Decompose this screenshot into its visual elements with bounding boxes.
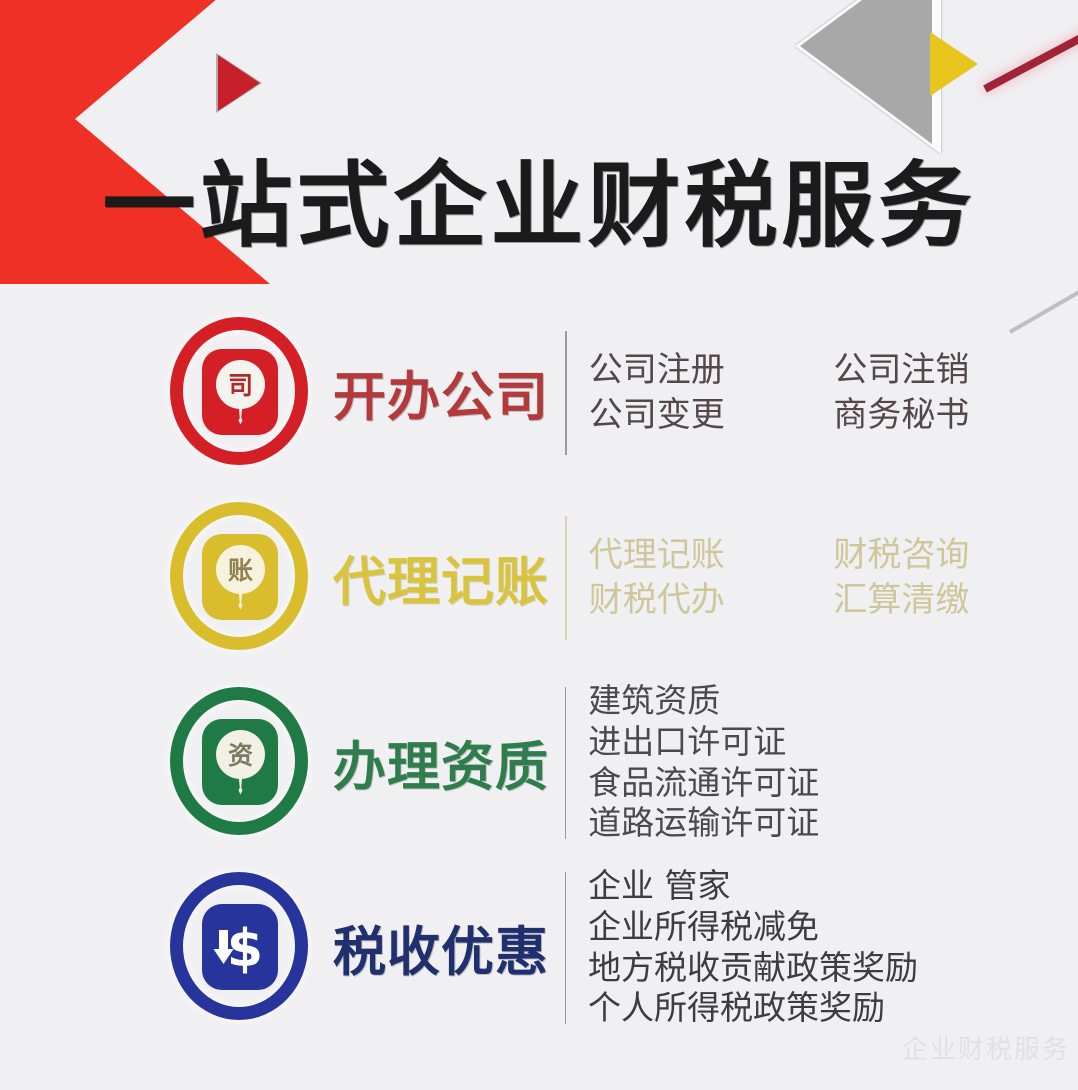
service-item: 代理记账 — [589, 533, 834, 578]
service-divider — [565, 331, 567, 455]
service-item: 食品流通许可证 — [588, 763, 1078, 804]
service-item: 进出口许可证 — [588, 722, 1078, 763]
bookkeeping-seal-icon: 账 — [165, 498, 325, 658]
yellow-triangle-decoration — [930, 32, 978, 96]
service-item: 财税代办 — [589, 578, 834, 623]
service-items: 代理记账 财税咨询 财税代办 汇算清缴 — [589, 533, 1078, 623]
dollar-down-arrow-icon: $ — [165, 868, 325, 1028]
service-title: 办理资质 — [333, 725, 565, 801]
watermark-text: 企业财税服务 — [902, 1029, 1070, 1066]
service-row-tax-benefits[interactable]: $ 税收优惠 企业 管家 企业所得税减免 地方税收贡献政策奖励 个人所得税政策奖… — [0, 855, 1078, 1040]
icon-character-bubble: 司 — [216, 360, 265, 409]
service-item: 公司注销 — [833, 348, 1078, 393]
service-item: 地方税收贡献政策奖励 — [588, 948, 1078, 989]
service-title: 代理记账 — [333, 540, 565, 616]
service-row-start-company[interactable]: 司 开办公司 公司注册 公司注销 公司变更 商务秘书 — [0, 300, 1078, 485]
promotional-poster: 一站式企业财税服务 司 开办公司 公司注册 公司注销 公司变更 商务秘书 — [0, 0, 1078, 1090]
small-red-triangle-decoration — [218, 55, 260, 111]
service-title: 税收优惠 — [333, 910, 565, 986]
service-item: 商务秘书 — [833, 393, 1078, 438]
service-divider — [565, 516, 567, 640]
qualification-seal-icon: 资 — [165, 683, 325, 843]
service-title: 开办公司 — [333, 355, 565, 431]
service-item: 企业所得税减免 — [588, 907, 1078, 948]
service-row-bookkeeping[interactable]: 账 代理记账 代理记账 财税咨询 财税代办 汇算清缴 — [0, 485, 1078, 670]
service-item: 财税咨询 — [833, 533, 1078, 578]
service-list: 司 开办公司 公司注册 公司注销 公司变更 商务秘书 账 代理记账 代理记账 财… — [0, 300, 1078, 1040]
service-item: 个人所得税政策奖励 — [588, 988, 1078, 1029]
icon-character-bubble: 资 — [216, 730, 265, 779]
service-item: 企业 管家 — [588, 866, 1078, 907]
gray-triangle-decoration — [800, 0, 932, 144]
service-divider — [565, 687, 566, 839]
service-items: 公司注册 公司注销 公司变更 商务秘书 — [589, 348, 1078, 438]
service-item: 汇算清缴 — [833, 578, 1078, 623]
dollar-sign-with-down-arrow-glyph: $ — [205, 912, 275, 982]
company-seal-icon: 司 — [165, 313, 325, 473]
service-items: 建筑资质 进出口许可证 食品流通许可证 道路运输许可证 — [588, 681, 1078, 845]
service-divider — [565, 872, 566, 1024]
red-diagonal-stripe-decoration — [983, 15, 1078, 92]
page-title: 一站式企业财税服务 — [0, 160, 1078, 253]
service-items: 企业 管家 企业所得税减免 地方税收贡献政策奖励 个人所得税政策奖励 — [588, 866, 1078, 1030]
service-item: 建筑资质 — [588, 681, 1078, 722]
icon-character-bubble: 账 — [216, 545, 265, 594]
service-row-qualifications[interactable]: 资 办理资质 建筑资质 进出口许可证 食品流通许可证 道路运输许可证 — [0, 670, 1078, 855]
service-item: 道路运输许可证 — [588, 803, 1078, 844]
service-item: 公司注册 — [589, 348, 834, 393]
service-item: 公司变更 — [589, 393, 834, 438]
